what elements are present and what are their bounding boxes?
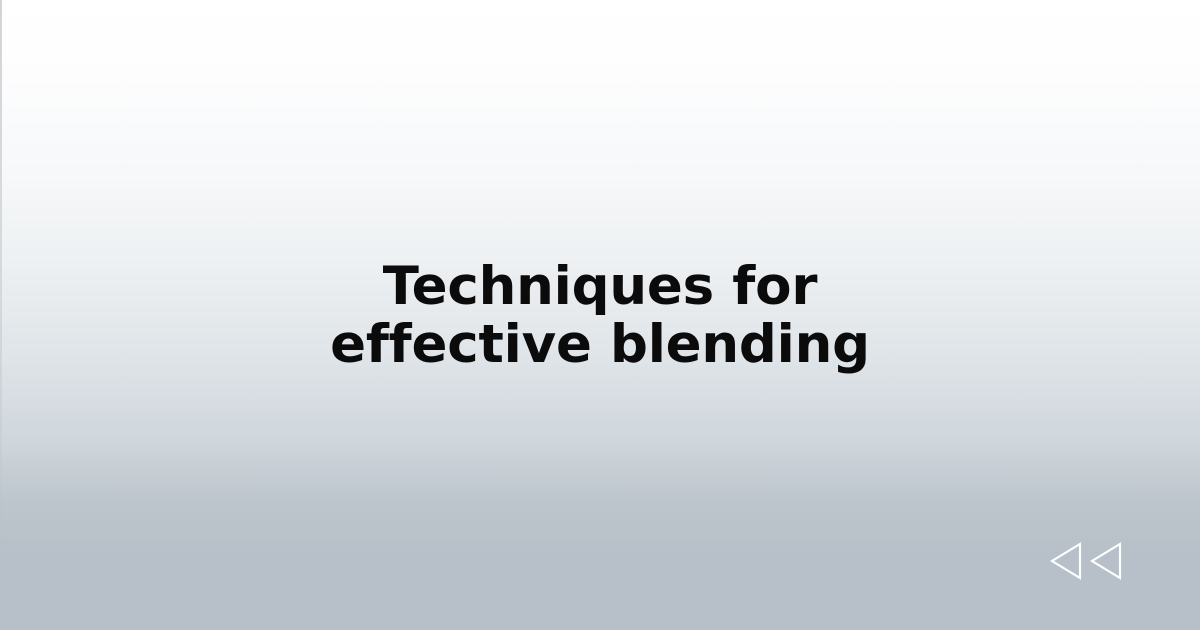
rewind-triangle-left-first-icon[interactable] xyxy=(1050,542,1082,580)
navigation-controls xyxy=(1050,542,1122,580)
title-block: Techniques for effective blending xyxy=(0,258,1200,374)
rewind-triangle-left-second-icon[interactable] xyxy=(1090,542,1122,580)
slide-canvas: Techniques for effective blending xyxy=(0,0,1200,630)
page-title: Techniques for effective blending xyxy=(300,258,900,374)
